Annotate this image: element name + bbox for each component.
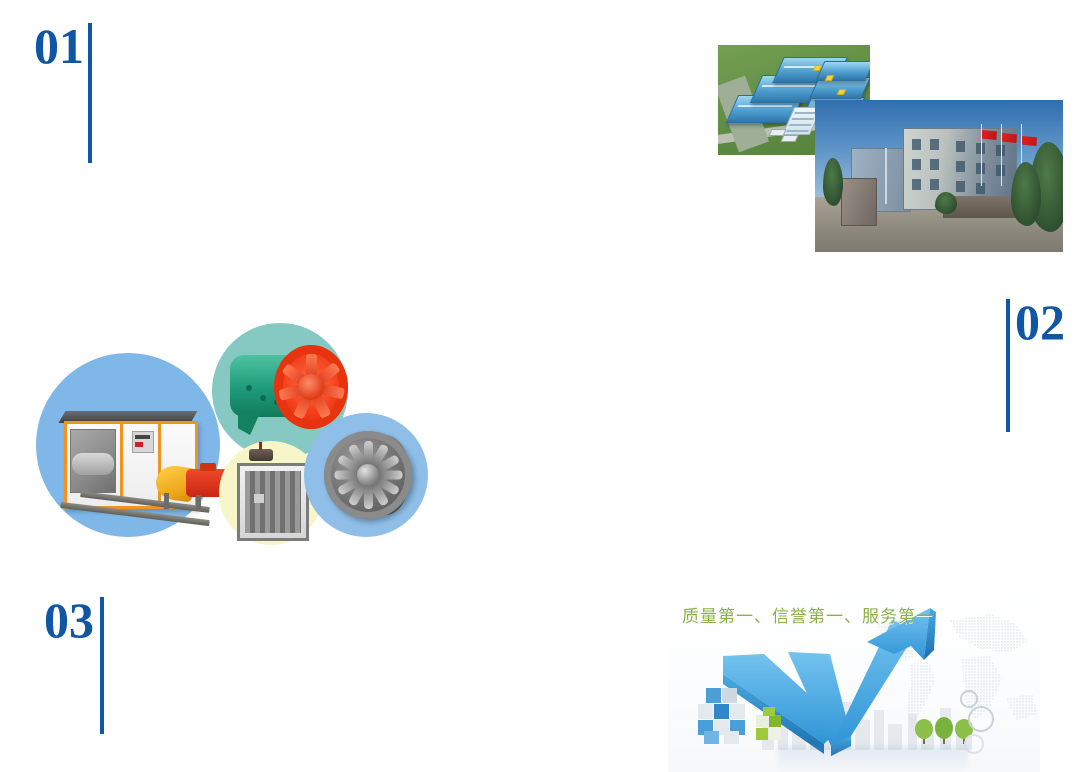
truck-2 bbox=[780, 135, 798, 142]
section-marker-01: 01 bbox=[34, 22, 92, 163]
damper-actuator bbox=[249, 449, 273, 461]
flagpole-1 bbox=[981, 124, 982, 186]
damper-label-tag bbox=[254, 494, 264, 503]
green-cube-stack-graphic bbox=[754, 706, 792, 746]
office-building-photo bbox=[815, 100, 1063, 252]
floor-reflection bbox=[778, 746, 968, 772]
cabinet-fan-bubble bbox=[36, 353, 220, 537]
slogan-text: 质量第一、信誉第一、服务第一 bbox=[682, 602, 934, 627]
workshop-ridge-1 bbox=[738, 105, 793, 107]
growth-arrow-banner: 质量第一、信誉第一、服务第一 bbox=[668, 594, 1040, 772]
red-flag-2 bbox=[1002, 133, 1017, 143]
axial-fan-foot bbox=[238, 413, 260, 435]
workshop-ridge-2 bbox=[762, 85, 817, 87]
section-marker-03: 03 bbox=[44, 596, 104, 734]
section-marker-02: 02 bbox=[1006, 298, 1065, 432]
workshop-building-6 bbox=[816, 61, 870, 81]
motor-leg-1 bbox=[164, 493, 169, 509]
centrifugal-wheel bbox=[72, 453, 114, 475]
slide-canvas: 01 02 03 bbox=[0, 0, 1074, 772]
flagpole-2 bbox=[1001, 124, 1002, 186]
decor-ring-large bbox=[968, 706, 994, 732]
axial-fan-impeller-ring bbox=[274, 345, 348, 429]
cabinet-panel-divider-1 bbox=[120, 423, 123, 501]
blue-cube-stack-graphic bbox=[696, 682, 758, 746]
tree-right-2 bbox=[1011, 162, 1041, 226]
light-pole bbox=[885, 148, 887, 204]
decor-ring-small bbox=[960, 690, 978, 708]
axial-fan-hub bbox=[298, 374, 324, 400]
section-number-01: 01 bbox=[34, 22, 84, 70]
red-flag-1 bbox=[982, 130, 997, 140]
control-box bbox=[132, 431, 154, 453]
mixed-flow-casing bbox=[324, 431, 412, 519]
section-rule-02 bbox=[1006, 299, 1010, 432]
section-number-02: 02 bbox=[1015, 298, 1065, 346]
motor-leg-2 bbox=[196, 495, 201, 511]
mixed-flow-fan-bubble bbox=[304, 413, 428, 537]
damper-frame bbox=[237, 463, 309, 541]
section-number-03: 03 bbox=[44, 596, 94, 644]
product-cluster bbox=[36, 323, 428, 548]
mixed-flow-hub bbox=[357, 464, 379, 486]
red-flag-3 bbox=[1022, 136, 1037, 146]
section-rule-01 bbox=[88, 23, 92, 163]
section-rule-03 bbox=[100, 597, 104, 734]
shrub-1 bbox=[935, 192, 957, 214]
tree-left-1 bbox=[823, 158, 843, 206]
gate-kiosk bbox=[841, 178, 877, 226]
